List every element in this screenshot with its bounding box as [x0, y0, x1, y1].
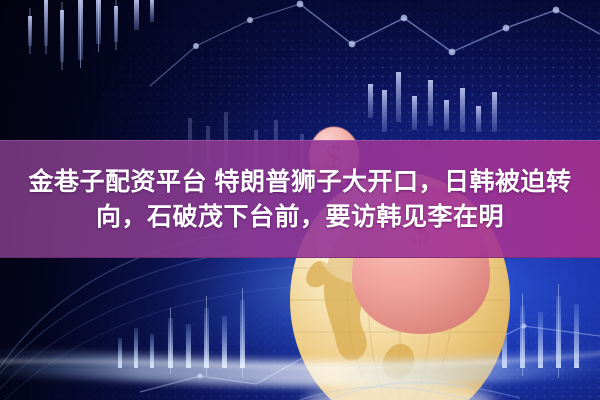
headline-text-block: 金巷子配资平台 特朗普狮子大开口，日韩被迫转 向，石破茂下台前，要访韩见李在明 — [0, 140, 600, 258]
headline-line-1: 金巷子配资平台 特朗普狮子大开口，日韩被迫转 — [29, 166, 572, 198]
candlestick-chart-top — [28, 0, 154, 70]
zigzag-line-chart-top — [150, 1, 600, 86]
news-thumbnail: $ $ 金巷子配资平台 特朗普狮子大开口，日韩被迫转 向，石破茂下台前，要访韩见… — [0, 0, 600, 400]
headline-line-2: 向，石破茂下台前，要访韩见李在明 — [96, 201, 504, 233]
candlestick-chart-top-mid — [368, 72, 497, 132]
